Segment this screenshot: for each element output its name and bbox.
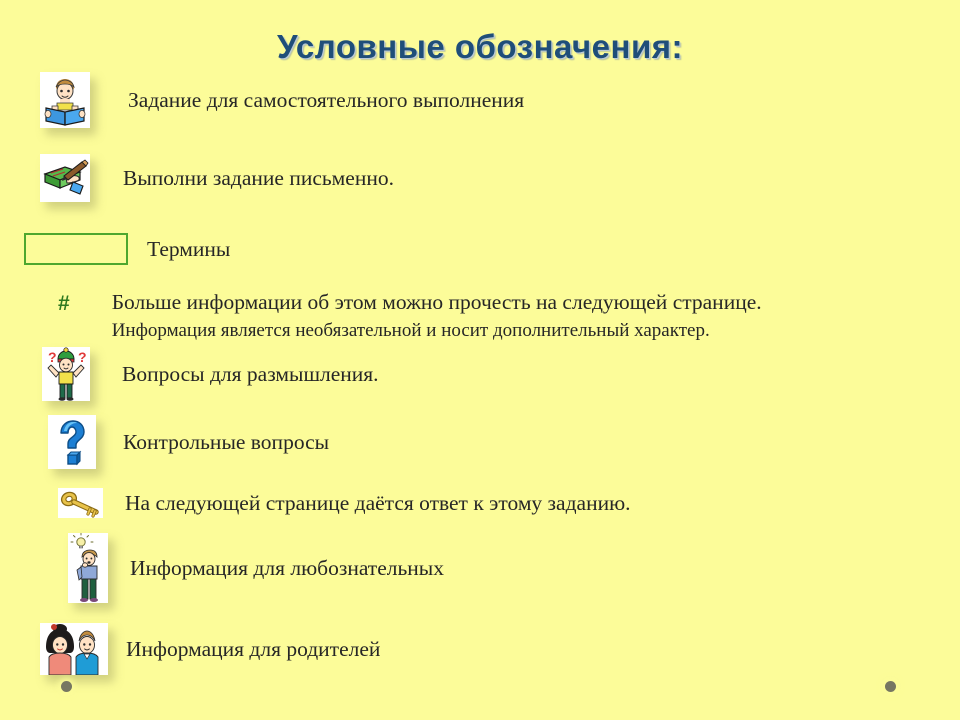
legend-row-terms: Термины	[24, 233, 230, 265]
empty-green-rectangle-icon	[24, 233, 128, 265]
legend-row-self-study: Задание для самостоятельного выполнения	[40, 72, 524, 128]
golden-key-icon	[58, 488, 103, 518]
legend-label-curious-info: Информация для любознательных	[130, 556, 444, 581]
parents-couple-icon	[40, 623, 108, 675]
legend-row-reflection-questions: ? ? Вопросы для размышления.	[42, 347, 379, 401]
legend-label-reflection-questions: Вопросы для размышления.	[122, 362, 379, 387]
notebook-pencil-icon	[40, 154, 90, 202]
legend-label-extra-info-line1: Больше информации об этом можно прочесть…	[112, 290, 762, 315]
curious-boy-lightbulb-icon	[68, 533, 108, 603]
hash-marker-icon: #	[58, 292, 70, 316]
legend-label-extra-info-line2: Информация является необязательной и нос…	[112, 320, 762, 342]
decorative-dot-right	[885, 681, 896, 692]
legend-row-answer-next-page: На следующей странице даётся ответ к это…	[58, 488, 631, 518]
legend-row-written-task: Выполни задание письменно.	[40, 154, 394, 202]
page-title: Условные обозначения:	[0, 28, 960, 66]
svg-text:?: ?	[48, 349, 57, 365]
legend-row-parents-info: Информация для родителей	[40, 623, 380, 675]
legend-row-control-questions: Контрольные вопросы	[48, 415, 329, 469]
legend-label-self-study: Задание для самостоятельного выполнения	[128, 88, 524, 113]
legend-row-extra-info: # Больше информации об этом можно прочес…	[58, 290, 762, 342]
svg-text:?: ?	[78, 349, 87, 365]
slide-canvas: Условные обозначения:	[0, 0, 960, 720]
decorative-dot-left	[61, 681, 72, 692]
boy-reading-book-icon	[40, 72, 90, 128]
legend-label-answer-next-page: На следующей странице даётся ответ к это…	[125, 491, 631, 516]
legend-label-parents-info: Информация для родителей	[126, 637, 380, 662]
legend-label-terms: Термины	[147, 237, 230, 262]
legend-label-control-questions: Контрольные вопросы	[123, 430, 329, 455]
legend-row-curious-info: Информация для любознательных	[68, 533, 444, 603]
jester-boy-question-marks-icon: ? ?	[42, 347, 90, 401]
legend-label-written-task: Выполни задание письменно.	[123, 166, 394, 191]
blue-question-mark-icon	[48, 415, 96, 469]
